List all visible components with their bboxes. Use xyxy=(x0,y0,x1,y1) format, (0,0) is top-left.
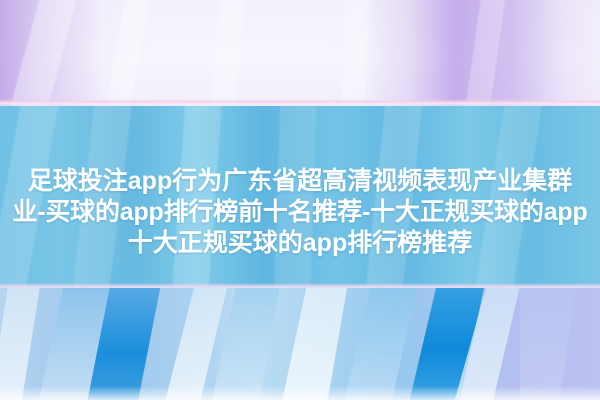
banner-headline: 足球投注app行为广东省超高清视频表现产业集群 业-买球的app排行榜前十名推荐… xyxy=(0,166,600,259)
headline-line-1: 足球投注app行为广东省超高清视频表现产业集群 xyxy=(0,166,600,197)
background-top-streaks xyxy=(0,0,600,106)
background-bottom-fade xyxy=(0,386,600,400)
headline-line-3: 十大正规买球的app排行榜推荐 xyxy=(0,228,600,259)
headline-line-2: 业-买球的app排行榜前十名推荐-十大正规买球的app xyxy=(0,197,600,228)
promo-banner: 足球投注app行为广东省超高清视频表现产业集群 业-买球的app排行榜前十名推荐… xyxy=(0,0,600,400)
background-upper-seam xyxy=(0,99,600,106)
